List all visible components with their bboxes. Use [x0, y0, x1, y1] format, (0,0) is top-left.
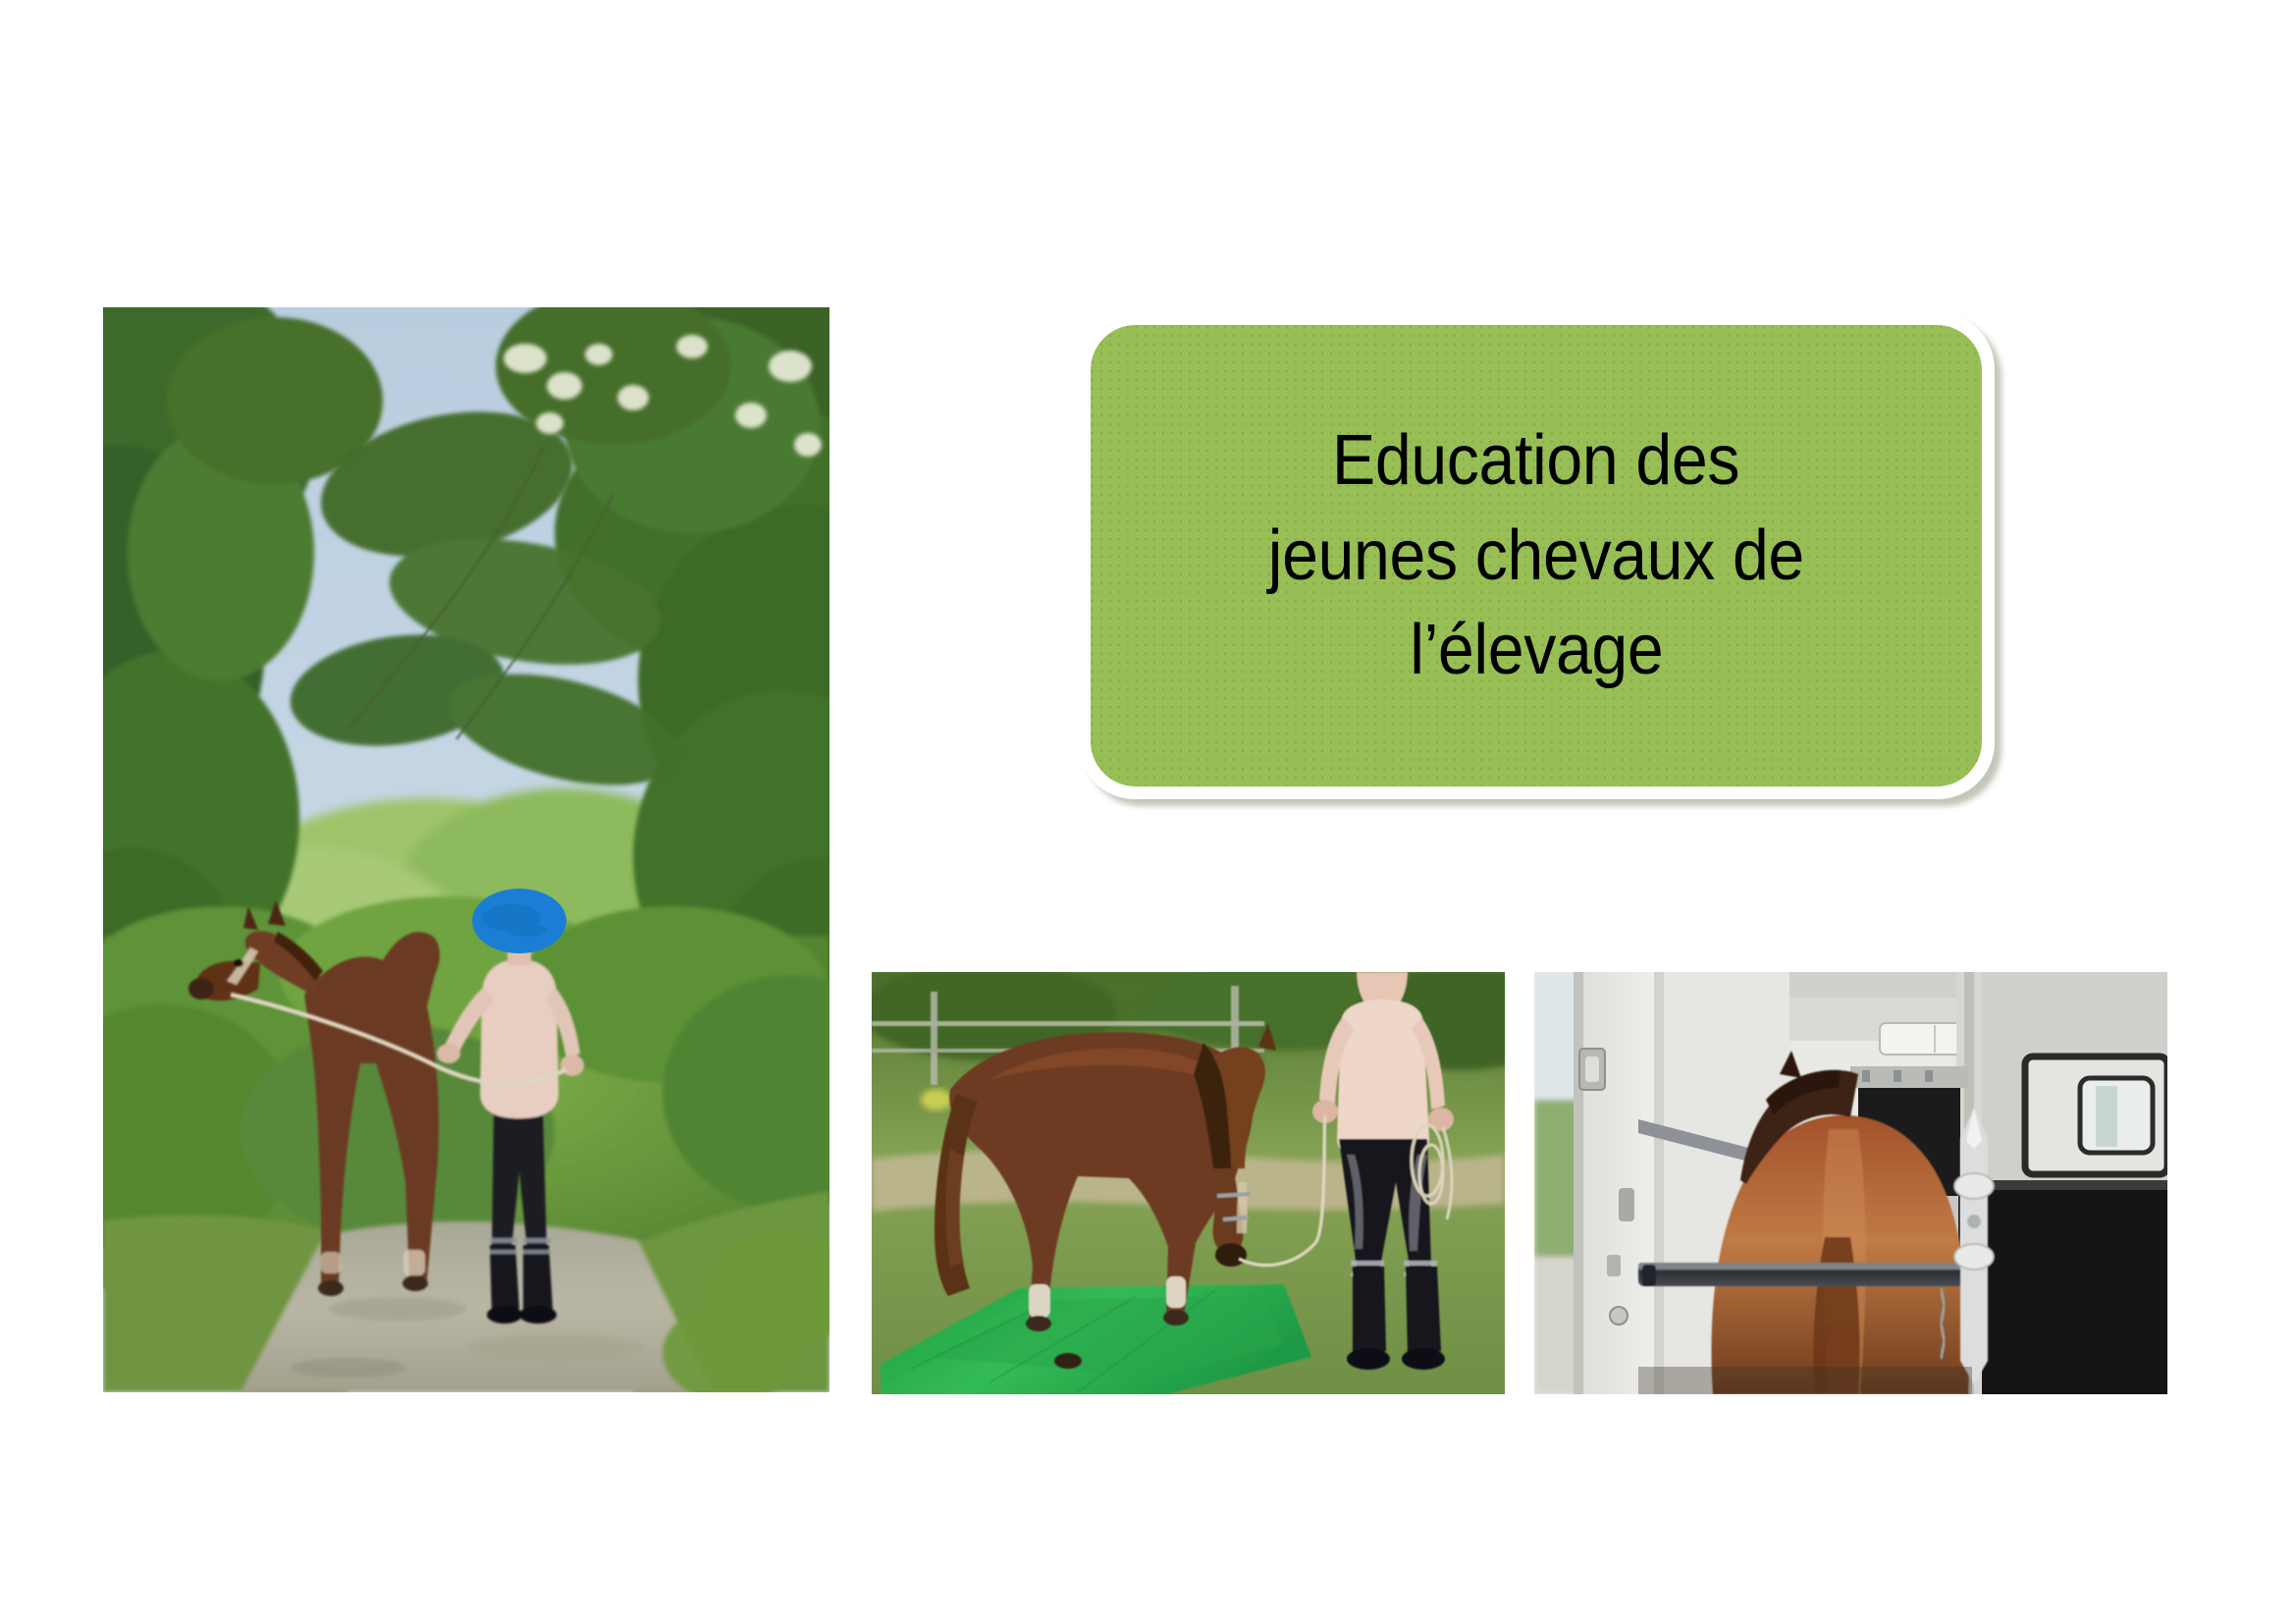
slide-canvas: Education des jeunes chevaux de l’élevag…: [0, 0, 2296, 1624]
title-callout-inner: Education des jeunes chevaux de l’élevag…: [1091, 325, 1982, 786]
photo-horse-led-on-trail-artwork: [103, 307, 829, 1392]
photo-horse-led-on-trail: [103, 307, 829, 1392]
title-line-2: jeunes chevaux de: [1268, 509, 1804, 603]
photo-horse-crossing-green-tarp: [872, 972, 1505, 1394]
photo-horse-crossing-green-tarp-artwork: [872, 972, 1505, 1394]
title-callout-box: Education des jeunes chevaux de l’élevag…: [1078, 312, 1995, 799]
title-line-3: l’élevage: [1410, 603, 1663, 697]
title-line-1: Education des: [1332, 413, 1739, 508]
photo-horse-loading-in-trailer: [1534, 972, 2167, 1394]
photo-horse-loading-in-trailer-artwork: [1534, 972, 2167, 1394]
